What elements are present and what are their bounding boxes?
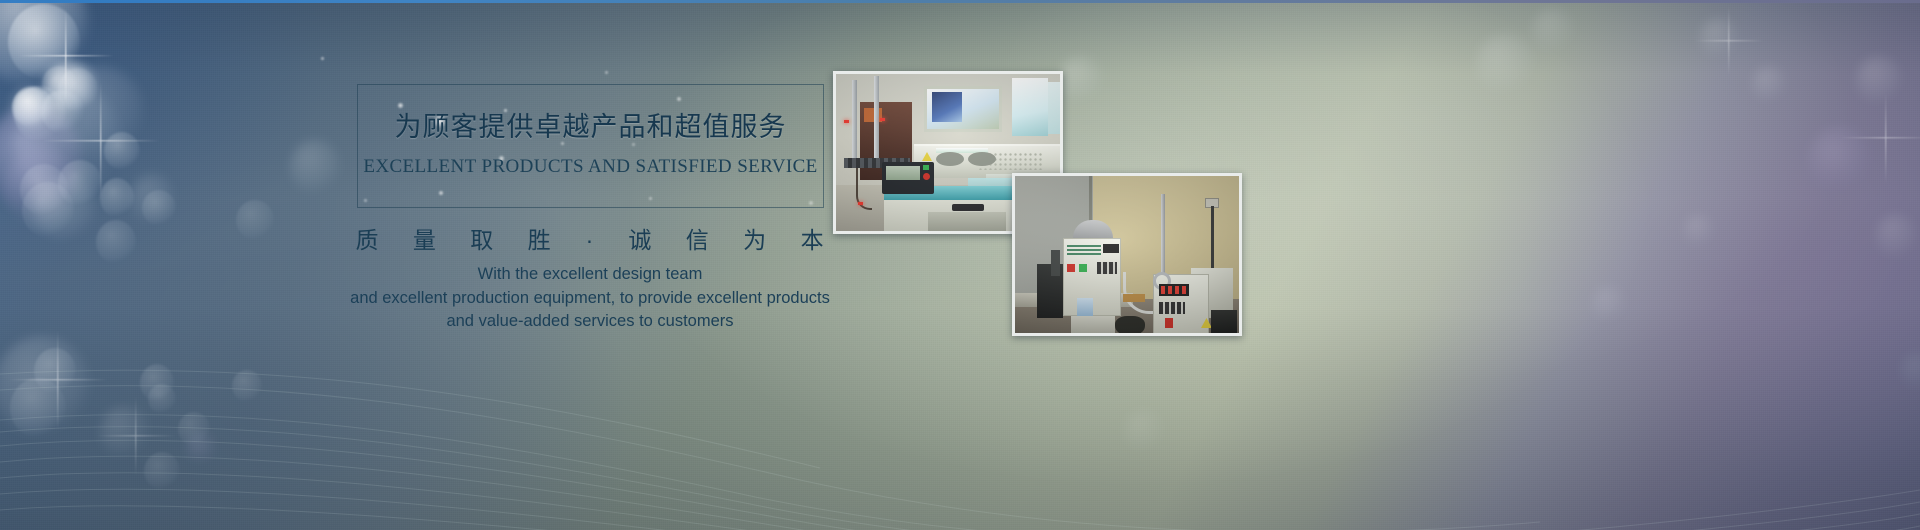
- headline-chinese: 为顾客提供卓越产品和超值服务: [357, 110, 824, 144]
- paragraph-line: With the excellent design team: [290, 263, 890, 287]
- bokeh-circle: [236, 200, 274, 240]
- light-speck: [320, 56, 325, 61]
- slogan-char: 胜: [515, 224, 565, 256]
- photo-content: [1015, 176, 1239, 333]
- top-accent-line: [0, 0, 1920, 3]
- slogan-char: 本: [788, 224, 838, 256]
- paragraph-line: and excellent production equipment, to p…: [290, 287, 890, 311]
- hero-banner: 为顾客提供卓越产品和超值服务 EXCELLENT PRODUCTS AND SA…: [0, 0, 1920, 530]
- banner-paragraph: With the excellent design team and excel…: [290, 263, 890, 334]
- bokeh-circle: [1876, 214, 1916, 258]
- bokeh-circle: [1684, 214, 1714, 246]
- paragraph-line: and value-added services to customers: [290, 310, 890, 334]
- slogan-char: 质: [342, 224, 392, 256]
- slogan-char: 取: [457, 224, 507, 256]
- bokeh-circle: [96, 220, 136, 264]
- slogan-char: 为: [730, 224, 780, 256]
- bokeh-circle: [290, 140, 340, 194]
- slogan-char: 诚: [615, 224, 665, 256]
- sparkle: [1694, 6, 1764, 76]
- bokeh-circle: [1058, 56, 1102, 102]
- subheadline-english: EXCELLENT PRODUCTS AND SATISFIED SERVICE: [357, 155, 824, 179]
- decorative-waves: [0, 270, 1920, 530]
- company-slogan: 质 量 取 胜 · 诚 信 为 本: [330, 224, 850, 256]
- bokeh-circle: [1532, 8, 1574, 52]
- light-speck: [604, 70, 609, 75]
- bokeh-circle: [1476, 34, 1534, 94]
- welding-machine-photo[interactable]: [1012, 173, 1242, 336]
- slogan-char: 信: [673, 224, 723, 256]
- slogan-char: 量: [400, 224, 450, 256]
- slogan-separator: ·: [572, 224, 608, 256]
- sparkle: [42, 82, 160, 200]
- sparkle: [1840, 92, 1920, 184]
- headline-frame: [357, 84, 824, 208]
